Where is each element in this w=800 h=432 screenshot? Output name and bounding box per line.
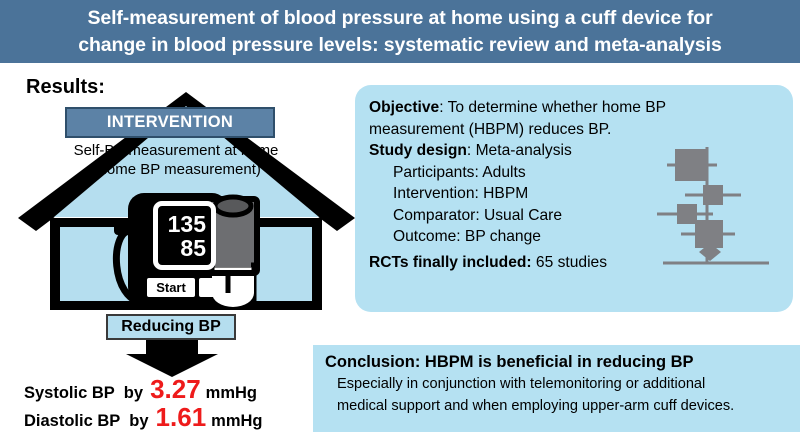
forest-study-1 [667,149,717,181]
outcome-systolic-unit: mmHg [206,384,257,403]
forest-box-3 [677,204,697,224]
forest-box-2 [703,185,723,205]
rcts-value: 65 studies [532,254,607,271]
intervention-banner: INTERVENTION [65,107,275,138]
bp-start-button[interactable]: Start [147,278,195,297]
outcome-diastolic: Diastolic BP by 1.61 mmHg [24,402,263,432]
title-line-1: Self-measurement of blood pressure at ho… [87,5,712,32]
poster-root: Self-measurement of blood pressure at ho… [0,0,800,432]
objective-row: Objective: To determine whether home BP [369,97,779,119]
forest-box-4 [695,220,723,248]
study-design-key: Study design [369,142,467,159]
down-arrow-icon [124,340,220,378]
bp-secondary-button[interactable] [199,278,221,297]
forest-study-2 [685,185,741,205]
title-line-2: change in blood pressure levels: systema… [78,32,721,59]
rcts-key: RCTs finally included: [369,254,532,271]
bp-monitor-illustration: 135 85 Start [100,185,270,315]
outcome-diastolic-by: by [129,412,148,431]
forest-plot-chart [655,145,775,273]
objective-key: Objective [369,99,439,116]
house-description: Self-BP measurement at home (Home BP mea… [40,141,312,179]
outcome-systolic-label: Systolic BP [24,384,115,403]
outcome-diastolic-unit: mmHg [211,412,262,431]
conclusion-line-2: medical support and when employing upper… [325,396,790,416]
bp-cuff-top [215,197,251,215]
reducing-bp-label: Reducing BP [121,318,221,336]
objective-row-2: measurement (HBPM) reduces BP. [369,119,779,141]
reducing-bp-box: Reducing BP [106,314,236,340]
outcome-diastolic-value: 1.61 [156,402,207,432]
intervention-banner-label: INTERVENTION [107,113,233,132]
house-description-line-2: (Home BP measurement) [40,160,312,179]
arrow-shape [126,340,218,377]
poster-header: Self-measurement of blood pressure at ho… [0,0,800,63]
outcome-systolic: Systolic BP by 3.27 mmHg [24,374,257,405]
bp-diastolic-value: 85 [180,236,206,260]
conclusion-panel: Conclusion: HBPM is beneficial in reduci… [313,345,800,432]
conclusion-line-1: Especially in conjunction with telemonit… [325,374,790,394]
study-design-text: : Meta-analysis [467,142,572,159]
forest-study-4 [681,220,735,248]
conclusion-title: Conclusion: HBPM is beneficial in reduci… [325,353,790,372]
objective-panel: Objective: To determine whether home BP … [355,85,793,312]
house-description-line-1: Self-BP measurement at home [40,141,312,160]
outcome-systolic-value: 3.27 [150,374,201,405]
outcome-diastolic-label: Diastolic BP [24,412,120,431]
bp-systolic-value: 135 [168,212,206,236]
bp-display: 135 85 [153,201,216,270]
objective-text: : To determine whether home BP [439,99,666,116]
forest-box-1 [675,149,707,181]
outcome-systolic-by: by [124,384,143,403]
